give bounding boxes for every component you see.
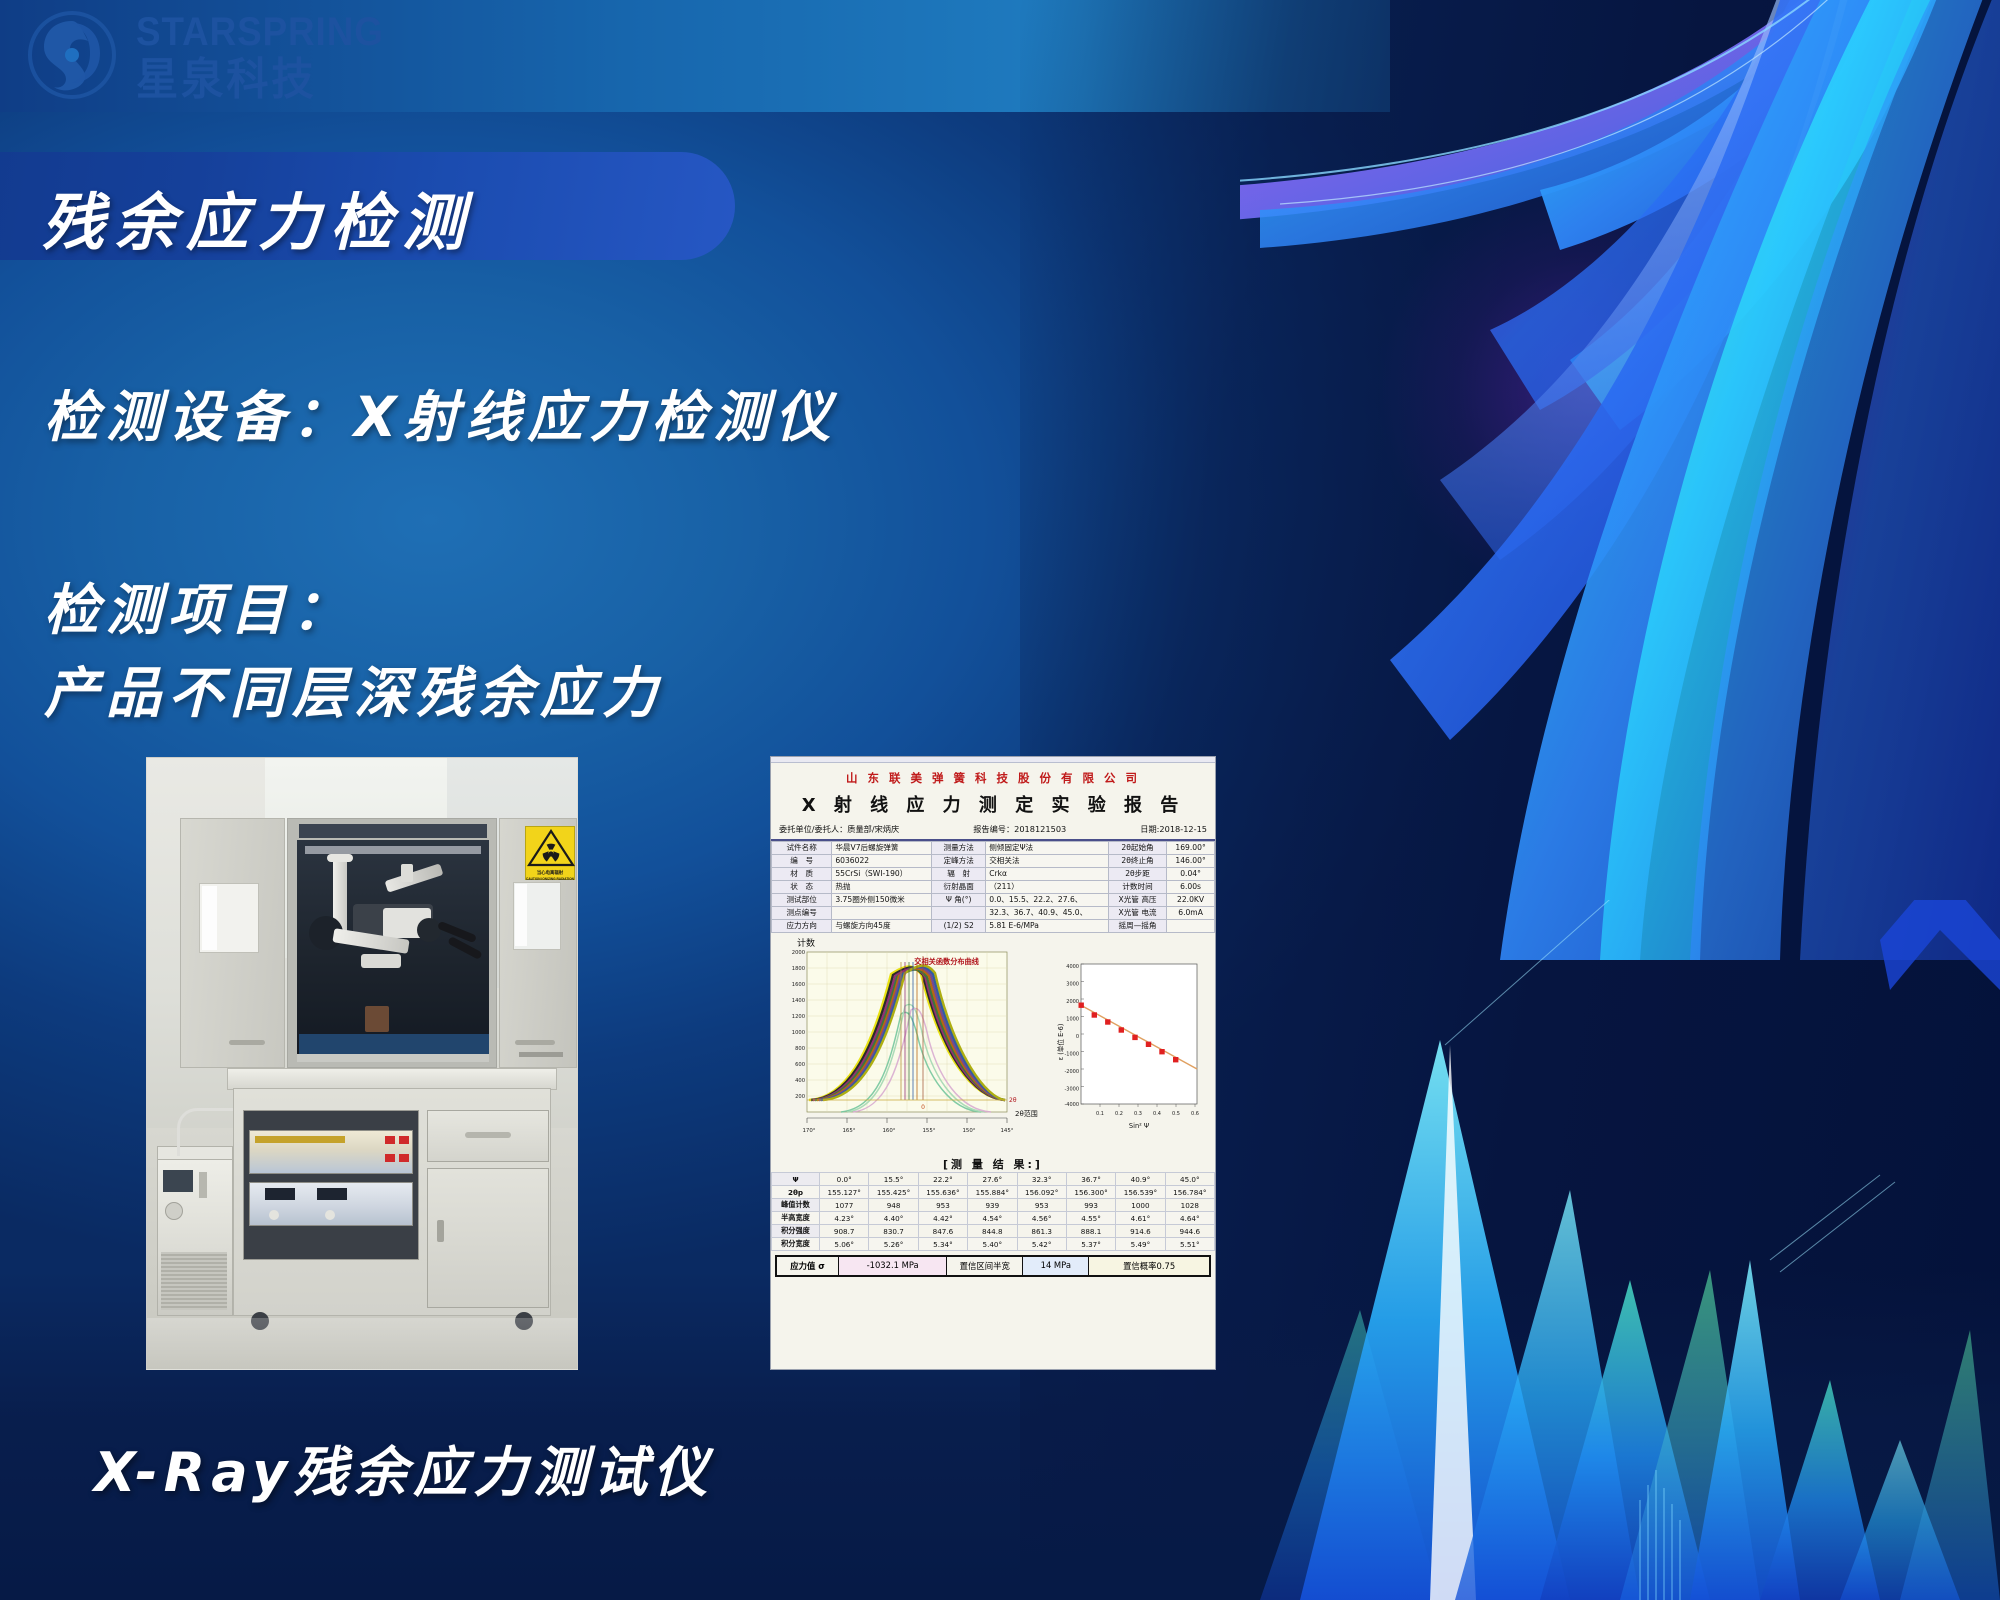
svg-text:0.3: 0.3: [1134, 1111, 1142, 1117]
results-title: [测 量 结 果:]: [771, 1156, 1215, 1172]
table-cell: 156.539°: [1116, 1186, 1165, 1199]
table-cell: 5.42°: [1017, 1238, 1066, 1251]
table-cell: X光管 电流: [1108, 907, 1166, 920]
svg-text:800: 800: [795, 1046, 805, 1052]
table-cell: 测点编号: [772, 907, 832, 920]
svg-text:1600: 1600: [792, 982, 805, 988]
table-cell: 2θ起始角: [1108, 842, 1166, 855]
table-row: 积分宽度5.06°5.26°5.34°5.40°5.42°5.37°5.49°5…: [772, 1238, 1215, 1251]
svg-text:600: 600: [795, 1062, 805, 1068]
table-cell: 4.42°: [918, 1212, 967, 1225]
table-cell: 4.55°: [1066, 1212, 1115, 1225]
svg-text:-1000: -1000: [1064, 1052, 1079, 1058]
table-cell: 155.127°: [820, 1186, 869, 1199]
report-client: 委托单位/委托人：质量部/宋炳庆: [779, 823, 899, 835]
table-cell: 1028: [1165, 1199, 1214, 1212]
table-cell: (1/2) S2: [932, 920, 986, 933]
table-row: 材 质55CrSi（SWI-190）辐 射Crkα2θ步距0.04°: [772, 868, 1215, 881]
row-header: 积分强度: [772, 1225, 820, 1238]
report-date: 日期:2018-12-15: [1140, 823, 1207, 835]
svg-text:0.2: 0.2: [1115, 1111, 1123, 1117]
svg-text:-4000: -4000: [1064, 1102, 1079, 1108]
table-cell: 32.3、36.7、40.9、45.0、: [986, 907, 1109, 920]
table-cell: 0.0、15.5、22.2、27.6、: [986, 894, 1109, 907]
table-cell: 5.34°: [918, 1238, 967, 1251]
svg-text:160°: 160°: [883, 1128, 896, 1134]
svg-text:2θ: 2θ: [1009, 1097, 1017, 1104]
table-cell: 试件名称: [772, 842, 832, 855]
table-cell: 0.0°: [820, 1173, 869, 1186]
table-cell: 146.00°: [1167, 855, 1215, 868]
report-title: X 射 线 应 力 测 定 实 验 报 告: [771, 791, 1215, 817]
svg-text:165°: 165°: [843, 1128, 856, 1134]
table-cell: 155.425°: [869, 1186, 918, 1199]
table-cell: 861.3: [1017, 1225, 1066, 1238]
table-cell: 应力方向: [772, 920, 832, 933]
svg-text:0: 0: [921, 1104, 925, 1111]
table-cell: 22.0KV: [1167, 894, 1215, 907]
table-cell: [832, 907, 932, 920]
report-topbar: [771, 757, 1215, 763]
table-cell: 156.092°: [1017, 1186, 1066, 1199]
table-cell: 5.51°: [1165, 1238, 1214, 1251]
svg-text:0.4: 0.4: [1153, 1111, 1161, 1117]
table-row: Ψ0.0°15.5°22.2°27.6°32.3°36.7°40.9°45.0°: [772, 1173, 1215, 1186]
table-cell: 6.00s: [1167, 881, 1215, 894]
row-header: 2θp: [772, 1186, 820, 1199]
table-cell: 与螺旋方向45度: [832, 920, 932, 933]
cross-correlation-chart: 200018001600 140012001000 800600400 200: [781, 948, 1039, 1144]
table-row: 积分强度908.7830.7847.6844.8861.3888.1914.69…: [772, 1225, 1215, 1238]
svg-text:1200: 1200: [792, 1014, 805, 1020]
svg-text:2000: 2000: [1066, 999, 1079, 1005]
table-cell: 953: [918, 1199, 967, 1212]
test-report-document: 山 东 联 美 弹 簧 科 技 股 份 有 限 公 司 X 射 线 应 力 测 …: [770, 756, 1216, 1370]
table-row: 应力方向与螺旋方向45度(1/2) S25.81 E-6/MPa摇周—摇角: [772, 920, 1215, 933]
svg-text:145°: 145°: [1001, 1128, 1014, 1134]
table-cell: 华晨V7后螺旋弹簧: [832, 842, 932, 855]
svg-text:0.6: 0.6: [1191, 1111, 1199, 1117]
table-cell: 993: [1066, 1199, 1115, 1212]
sin2psi-scatter-chart: 400030002000 10000-1000 -2000-3000-4000: [1047, 946, 1212, 1144]
decorative-crystal-spires: [1240, 900, 2000, 1600]
table-row: 编 号6036022定峰方法交相关法2θ终止角146.00°: [772, 855, 1215, 868]
table-cell: 847.6: [918, 1225, 967, 1238]
table-cell: 4.56°: [1017, 1212, 1066, 1225]
report-number: 报告编号：2018121503: [973, 823, 1066, 835]
table-cell: 5.06°: [820, 1238, 869, 1251]
table-cell: 交相关法: [986, 855, 1109, 868]
table-cell: X光管 高压: [1108, 894, 1166, 907]
table-cell: 22.2°: [918, 1173, 967, 1186]
svg-text:交相关函数分布曲线: 交相关函数分布曲线: [914, 957, 980, 966]
table-cell: 计数时间: [1108, 881, 1166, 894]
table-cell: 5.81 E-6/MPa: [986, 920, 1109, 933]
report-charts: 计数: [771, 936, 1215, 1154]
svg-text:0.5: 0.5: [1172, 1111, 1180, 1117]
svg-text:150°: 150°: [963, 1128, 976, 1134]
table-cell: （211）: [986, 881, 1109, 894]
table-cell: 测试部位: [772, 894, 832, 907]
svg-text:170°: 170°: [803, 1128, 816, 1134]
table-cell: Crkα: [986, 868, 1109, 881]
table-cell: 908.7: [820, 1225, 869, 1238]
svg-text:0: 0: [1076, 1034, 1079, 1040]
svg-text:-3000: -3000: [1064, 1087, 1079, 1093]
row-header: 积分宽度: [772, 1238, 820, 1251]
table-cell: 914.6: [1116, 1225, 1165, 1238]
svg-text:1000: 1000: [792, 1030, 805, 1036]
table-cell: 156.784°: [1165, 1186, 1214, 1199]
table-cell: 155.884°: [968, 1186, 1017, 1199]
table-cell: 953: [1017, 1199, 1066, 1212]
table-cell: 944.6: [1165, 1225, 1214, 1238]
svg-text:200: 200: [795, 1094, 805, 1100]
table-row: 状 态热抛衍射晶面（211）计数时间6.00s: [772, 881, 1215, 894]
svg-text:1400: 1400: [792, 998, 805, 1004]
table-cell: 6.0mA: [1167, 907, 1215, 920]
svg-text:155°: 155°: [923, 1128, 936, 1134]
table-cell: 1077: [820, 1199, 869, 1212]
svg-text:-2000: -2000: [1064, 1069, 1079, 1075]
table-row: 试件名称华晨V7后螺旋弹簧测量方法侧倾固定Ψ法2θ起始角169.00°: [772, 842, 1215, 855]
table-cell: 45.0°: [1165, 1173, 1214, 1186]
table-cell: 155.636°: [918, 1186, 967, 1199]
ci-label: 置信区间半宽: [947, 1257, 1023, 1275]
table-cell: [932, 907, 986, 920]
table-cell: 169.00°: [1167, 842, 1215, 855]
item-label: 检测项目：: [44, 565, 354, 645]
svg-text:2θ范围: 2θ范围: [1015, 1109, 1038, 1118]
table-cell: [1167, 920, 1215, 933]
table-cell: 4.64°: [1165, 1212, 1214, 1225]
table-cell: 0.04°: [1167, 868, 1215, 881]
table-cell: 36.7°: [1066, 1173, 1115, 1186]
table-cell: 27.6°: [968, 1173, 1017, 1186]
report-company-name: 山 东 联 美 弹 簧 科 技 股 份 有 限 公 司: [771, 770, 1215, 786]
table-cell: 6036022: [832, 855, 932, 868]
table-row: 半高宽度4.23°4.40°4.42°4.54°4.56°4.55°4.61°4…: [772, 1212, 1215, 1225]
table-cell: 32.3°: [1017, 1173, 1066, 1186]
svg-text:Sin² Ψ: Sin² Ψ: [1129, 1122, 1149, 1130]
table-cell: 编 号: [772, 855, 832, 868]
table-cell: 衍射晶面: [932, 881, 986, 894]
table-cell: 939: [968, 1199, 1017, 1212]
table-cell: 5.49°: [1116, 1238, 1165, 1251]
row-header: 半高宽度: [772, 1212, 820, 1225]
row-header: Ψ: [772, 1173, 820, 1186]
table-cell: 4.61°: [1116, 1212, 1165, 1225]
parameters-table: 试件名称华晨V7后螺旋弹簧测量方法侧倾固定Ψ法2θ起始角169.00°编 号60…: [771, 841, 1215, 933]
table-cell: 55CrSi（SWI-190）: [832, 868, 932, 881]
table-cell: 40.9°: [1116, 1173, 1165, 1186]
table-cell: 定峰方法: [932, 855, 986, 868]
svg-text:4000: 4000: [1066, 964, 1079, 970]
measurement-results-table: Ψ0.0°15.5°22.2°27.6°32.3°36.7°40.9°45.0°…: [771, 1172, 1215, 1251]
table-cell: 摇周—摇角: [1108, 920, 1166, 933]
table-row: 峰值计数107794895393995399310001028: [772, 1199, 1215, 1212]
decorative-ribbons: [1240, 0, 2000, 960]
svg-text:400: 400: [795, 1078, 805, 1084]
equipment-photo: 当心电离辐射CAUTION IONIZING RADIATION: [146, 757, 578, 1370]
row-header: 峰值计数: [772, 1199, 820, 1212]
table-cell: 830.7: [869, 1225, 918, 1238]
table-cell: Ψ 角(°): [932, 894, 986, 907]
svg-text:1000: 1000: [1066, 1017, 1079, 1023]
slide-root: STARSPRING 星泉科技 残余应力检测 检测设备：X射线应力检测仪 检测项…: [0, 0, 2000, 1600]
svg-text:3000: 3000: [1066, 982, 1079, 988]
svg-text:ε (单位 E-6): ε (单位 E-6): [1056, 1024, 1065, 1061]
brand-name-cn: 星泉科技: [136, 58, 395, 102]
stress-label: 应力值 σ: [777, 1257, 839, 1275]
table-cell: 测量方法: [932, 842, 986, 855]
table-cell: 844.8: [968, 1225, 1017, 1238]
table-cell: 状 态: [772, 881, 832, 894]
brand-logo: STARSPRING 星泉科技: [26, 8, 405, 102]
table-row: 测试部位3.75圈外侧150微米Ψ 角(°)0.0、15.5、22.2、27.6…: [772, 894, 1215, 907]
table-cell: 4.54°: [968, 1212, 1017, 1225]
stress-result-bar: 应力值 σ -1032.1 MPa 置信区间半宽 14 MPa 置信概率0.75: [775, 1255, 1211, 1277]
table-cell: 4.23°: [820, 1212, 869, 1225]
table-cell: 2θ步距: [1108, 868, 1166, 881]
table-cell: 156.300°: [1066, 1186, 1115, 1199]
table-cell: 4.40°: [869, 1212, 918, 1225]
page-title: 残余应力检测: [42, 172, 474, 262]
table-row: 测点编号32.3、36.7、40.9、45.0、X光管 电流6.0mA: [772, 907, 1215, 920]
table-cell: 3.75圈外侧150微米: [832, 894, 932, 907]
table-cell: 2θ终止角: [1108, 855, 1166, 868]
radiation-warning-sticker: 当心电离辐射CAUTION IONIZING RADIATION: [525, 826, 575, 880]
table-cell: 948: [869, 1199, 918, 1212]
ci-value: 14 MPa: [1023, 1257, 1089, 1275]
stress-value: -1032.1 MPa: [839, 1257, 947, 1275]
brand-name-en: STARSPRING: [136, 12, 384, 52]
item-value: 产品不同层深残余应力: [44, 648, 664, 728]
table-cell: 热抛: [832, 881, 932, 894]
photo-caption: X-Ray残余应力测试仪: [94, 1428, 713, 1507]
table-cell: 材 质: [772, 868, 832, 881]
table-cell: 5.37°: [1066, 1238, 1115, 1251]
confidence-value: 置信概率0.75: [1089, 1257, 1209, 1275]
svg-text:0.1: 0.1: [1096, 1111, 1104, 1117]
table-row: 2θp155.127°155.425°155.636°155.884°156.0…: [772, 1186, 1215, 1199]
table-cell: 辐 射: [932, 868, 986, 881]
table-cell: 888.1: [1066, 1225, 1115, 1238]
starspring-circle-logo: [26, 9, 118, 101]
table-cell: 5.26°: [869, 1238, 918, 1251]
svg-text:1800: 1800: [792, 966, 805, 972]
table-cell: 15.5°: [869, 1173, 918, 1186]
equipment-line: 检测设备：X射线应力检测仪: [44, 372, 837, 452]
table-cell: 5.40°: [968, 1238, 1017, 1251]
report-meta: 委托单位/委托人：质量部/宋炳庆 报告编号：2018121503 日期:2018…: [771, 817, 1215, 841]
table-cell: 1000: [1116, 1199, 1165, 1212]
svg-text:2000: 2000: [792, 950, 805, 956]
table-cell: 侧倾固定Ψ法: [986, 842, 1109, 855]
